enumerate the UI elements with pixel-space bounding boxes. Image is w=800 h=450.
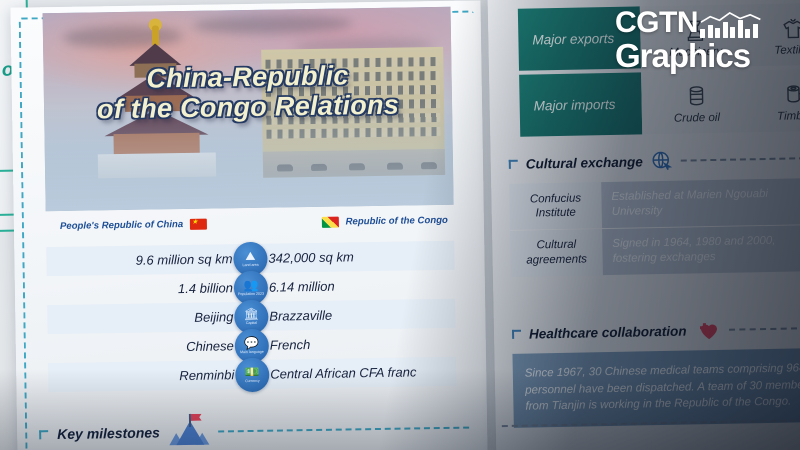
cultural-exchange-title: Cultural exchange [526, 154, 643, 171]
row-value-china: 1.4 billion [178, 280, 233, 296]
cultural-row-value: Signed in 1964, 1980 and 2000, fostering… [602, 225, 800, 275]
cultural-exchange-section: Cultural exchange Confucius Institute Es… [509, 147, 800, 277]
trade-item-label: Timber [754, 109, 800, 123]
healthcare-heading: Healthcare collaboration [512, 317, 800, 345]
page-title: China-Republic of the Congo Relations [43, 59, 452, 126]
hero-image: China-Republic of the Congo Relations [43, 7, 454, 211]
trade-item-label: Crude oil [656, 111, 738, 125]
healthcare-section: Healthcare collaboration Since 1967, 30 … [512, 317, 800, 428]
healthcare-corner-marker [512, 329, 521, 338]
comparison-table: 9.6 million sq km ⛰ Land area 342,000 sq… [46, 241, 456, 392]
land-area-icon: ⛰ [245, 250, 255, 262]
row-value-congo: Central African CFA franc [270, 364, 416, 381]
oil-barrel-icon [655, 80, 738, 110]
right-panel: Major exports Machinery [488, 0, 800, 450]
milestones-corner-marker [39, 430, 48, 439]
comparison-header-china-label: People's Republic of China [60, 219, 183, 232]
heart-medical-icon [694, 319, 720, 341]
trade-label-exports: Major exports [518, 6, 641, 70]
trade-item: Crude oil [655, 80, 738, 125]
metric-badge-currency: 💵 Currency [235, 357, 270, 392]
cultural-row-key: Cultural agreements [510, 229, 603, 277]
row-value-congo: 342,000 sq km [268, 249, 354, 265]
metric-label: Capital [246, 321, 257, 325]
cultural-corner-marker [509, 159, 518, 168]
milestones-title: Key milestones [57, 424, 160, 442]
left-panel: China-Republic of the Congo Relations Pe… [10, 0, 487, 450]
page-title-line2: of the Congo Relations [44, 89, 452, 126]
trade-row-imports: Major imports Crude oil [519, 68, 800, 136]
trade-item-label: Machinery [655, 45, 737, 59]
row-value-congo: Brazzaville [269, 308, 332, 324]
machinery-icon [654, 14, 737, 44]
population-icon: 👥 [243, 279, 258, 291]
row-value-congo: French [270, 337, 311, 353]
healthcare-title: Healthcare collaboration [529, 323, 687, 341]
row-value-china: 9.6 million sq km [136, 251, 233, 268]
trade-item-label: Textiles [753, 43, 800, 57]
log-icon [753, 78, 800, 108]
infographic-slide: on 's [0, 0, 800, 450]
metric-label: Main language [240, 350, 264, 354]
comparison-header-congo: Republic of the Congo [321, 215, 447, 228]
capital-icon: 🏛 [244, 308, 259, 320]
comparison-header-congo-label: Republic of the Congo [345, 215, 447, 228]
cultural-dashed-line [681, 157, 800, 162]
table-row: Confucius Institute Established at Marie… [509, 178, 800, 231]
table-row: Cultural agreements Signed in 1964, 1980… [510, 225, 800, 277]
milestones-dashed-line [218, 427, 469, 433]
china-flag-icon [190, 219, 207, 230]
trade-item: Machinery [654, 14, 737, 59]
language-icon: 💬 [244, 337, 259, 349]
tshirt-icon [752, 12, 800, 42]
metric-label: Population 2023 [238, 292, 264, 296]
row-value-china: Beijing [194, 309, 233, 325]
healthcare-dashed-line [729, 327, 800, 331]
cultural-table: Confucius Institute Established at Marie… [509, 178, 800, 277]
metric-label: Currency [245, 379, 260, 383]
congo-flag-icon [321, 217, 338, 228]
trade-row-exports: Major exports Machinery [518, 2, 800, 70]
trade-item: Timber [753, 78, 800, 123]
cultural-exchange-heading: Cultural exchange [509, 147, 800, 175]
cultural-row-key: Confucius Institute [509, 182, 602, 230]
trade-label-imports: Major imports [519, 72, 642, 136]
row-value-congo: 6.14 million [269, 279, 335, 295]
trade-section: Major exports Machinery [518, 2, 800, 140]
globe-icon [651, 150, 673, 172]
metric-label: Land area [242, 263, 258, 267]
currency-icon: 💵 [245, 366, 260, 378]
row-value-china: Renminbi [179, 367, 234, 383]
mountain-flag-icon [169, 419, 209, 446]
trade-items-imports: Crude oil Timber [641, 68, 800, 134]
trade-items-exports: Machinery Textiles [640, 2, 800, 68]
row-value-china: Chinese [186, 338, 234, 354]
cultural-row-value: Established at Marien Ngouabi University [601, 178, 800, 228]
comparison-header-china: People's Republic of China [60, 219, 207, 232]
trade-item: Textiles [752, 12, 800, 57]
healthcare-text: Since 1967, 30 Chinese medical teams com… [512, 348, 800, 428]
